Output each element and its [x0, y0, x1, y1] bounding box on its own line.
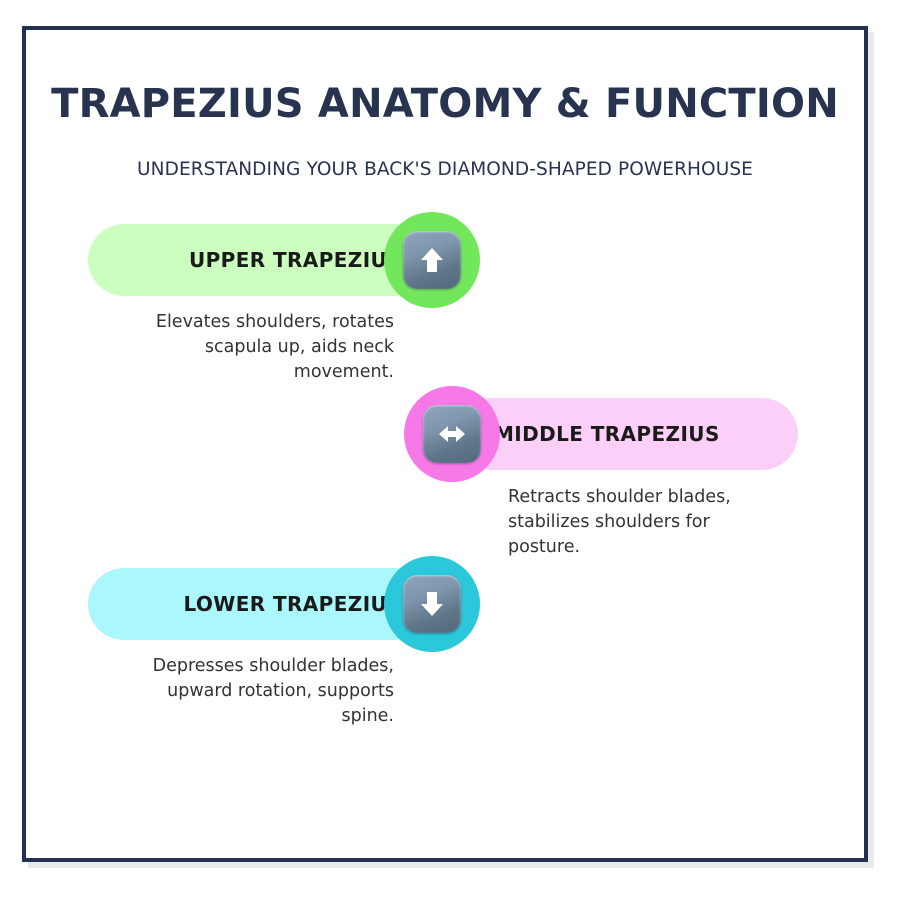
section-middle-trapezius: MIDDLE TRAPEZIUS Retracts shoulder blade… [26, 390, 864, 562]
section-upper-trapezius: UPPER TRAPEZIUS Elevates shoulders, rota… [26, 218, 864, 390]
arrow-left-right-icon [423, 405, 481, 463]
sections-list: UPPER TRAPEZIUS Elevates shoulders, rota… [26, 218, 864, 734]
section-band-upper[interactable]: UPPER TRAPEZIUS [88, 224, 430, 296]
section-badge-middle[interactable] [404, 386, 500, 482]
section-band-middle[interactable]: MIDDLE TRAPEZIUS [456, 398, 798, 470]
section-description-upper: Elevates shoulders, rotates scapula up, … [122, 310, 394, 385]
section-label-middle: MIDDLE TRAPEZIUS [494, 422, 720, 446]
infographic-poster: TRAPEZIUS ANATOMY & FUNCTION UNDERSTANDI… [22, 26, 868, 862]
section-description-lower: Depresses shoulder blades, upward rotati… [122, 654, 394, 729]
page-subtitle: UNDERSTANDING YOUR BACK'S DIAMOND-SHAPED… [26, 159, 864, 180]
section-badge-lower[interactable] [384, 556, 480, 652]
section-label-upper: UPPER TRAPEZIUS [189, 248, 402, 272]
arrow-down-icon [403, 575, 461, 633]
arrow-up-icon [403, 231, 461, 289]
section-badge-upper[interactable] [384, 212, 480, 308]
section-description-middle: Retracts shoulder blades, stabilizes sho… [508, 485, 780, 560]
poster-header: TRAPEZIUS ANATOMY & FUNCTION UNDERSTANDI… [26, 30, 864, 180]
section-label-lower: LOWER TRAPEZIUS [183, 592, 402, 616]
page-title: TRAPEZIUS ANATOMY & FUNCTION [26, 82, 864, 126]
section-band-lower[interactable]: LOWER TRAPEZIUS [88, 568, 430, 640]
section-lower-trapezius: LOWER TRAPEZIUS Depresses shoulder blade… [26, 562, 864, 734]
